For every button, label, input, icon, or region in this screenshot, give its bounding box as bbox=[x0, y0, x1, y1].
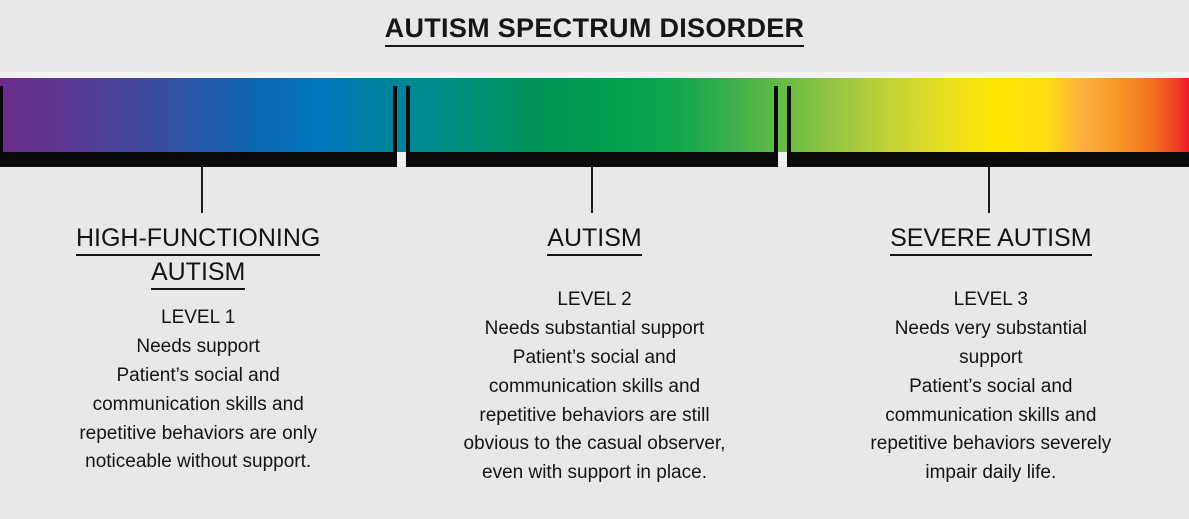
column-heading-2: AUTISM bbox=[410, 222, 778, 256]
column-level-2: LEVEL 2 bbox=[410, 286, 778, 315]
column-level-3: LEVEL 3 bbox=[807, 286, 1175, 315]
column-high-functioning-autism: HIGH-FUNCTIONING AUTISM LEVEL 1 Needs su… bbox=[0, 222, 396, 519]
column-body-3: Needs very substantial support Patient’s… bbox=[807, 315, 1175, 488]
column-heading-3: SEVERE AUTISM bbox=[807, 222, 1175, 256]
tick-level-2 bbox=[591, 167, 593, 213]
spectrum-divider-2b bbox=[787, 86, 791, 167]
spectrum-left-edge-rule bbox=[0, 86, 3, 152]
column-body-2: Needs substantial support Patient’s soci… bbox=[410, 315, 778, 488]
column-severe-autism: SEVERE AUTISM LEVEL 3 Needs very substan… bbox=[793, 222, 1189, 519]
column-heading-2-line-1: AUTISM bbox=[547, 222, 641, 256]
spectrum-gap-notch-1 bbox=[397, 152, 406, 167]
spectrum-gradient bbox=[0, 78, 1189, 152]
column-heading-1-line-1: HIGH-FUNCTIONING bbox=[76, 222, 320, 256]
spectrum-divider-1b bbox=[406, 86, 410, 167]
column-heading-1: HIGH-FUNCTIONING AUTISM bbox=[14, 222, 382, 290]
column-body-1: Needs support Patient’s social and commu… bbox=[14, 333, 382, 477]
tick-level-1 bbox=[201, 167, 203, 213]
column-autism: AUTISM LEVEL 2 Needs substantial support… bbox=[396, 222, 792, 519]
column-heading-1-line-2: AUTISM bbox=[151, 256, 245, 290]
column-heading-3-line-1: SEVERE AUTISM bbox=[890, 222, 1091, 256]
tick-level-3 bbox=[988, 167, 990, 213]
column-level-1: LEVEL 1 bbox=[14, 304, 382, 333]
page-title: AUTISM SPECTRUM DISORDER bbox=[385, 14, 805, 47]
spectrum-band bbox=[0, 72, 1189, 168]
severity-columns: HIGH-FUNCTIONING AUTISM LEVEL 1 Needs su… bbox=[0, 222, 1189, 519]
title-bar: AUTISM SPECTRUM DISORDER bbox=[0, 0, 1189, 47]
spectrum-baseline bbox=[0, 152, 1189, 167]
spectrum-gap-notch-2 bbox=[778, 152, 787, 167]
